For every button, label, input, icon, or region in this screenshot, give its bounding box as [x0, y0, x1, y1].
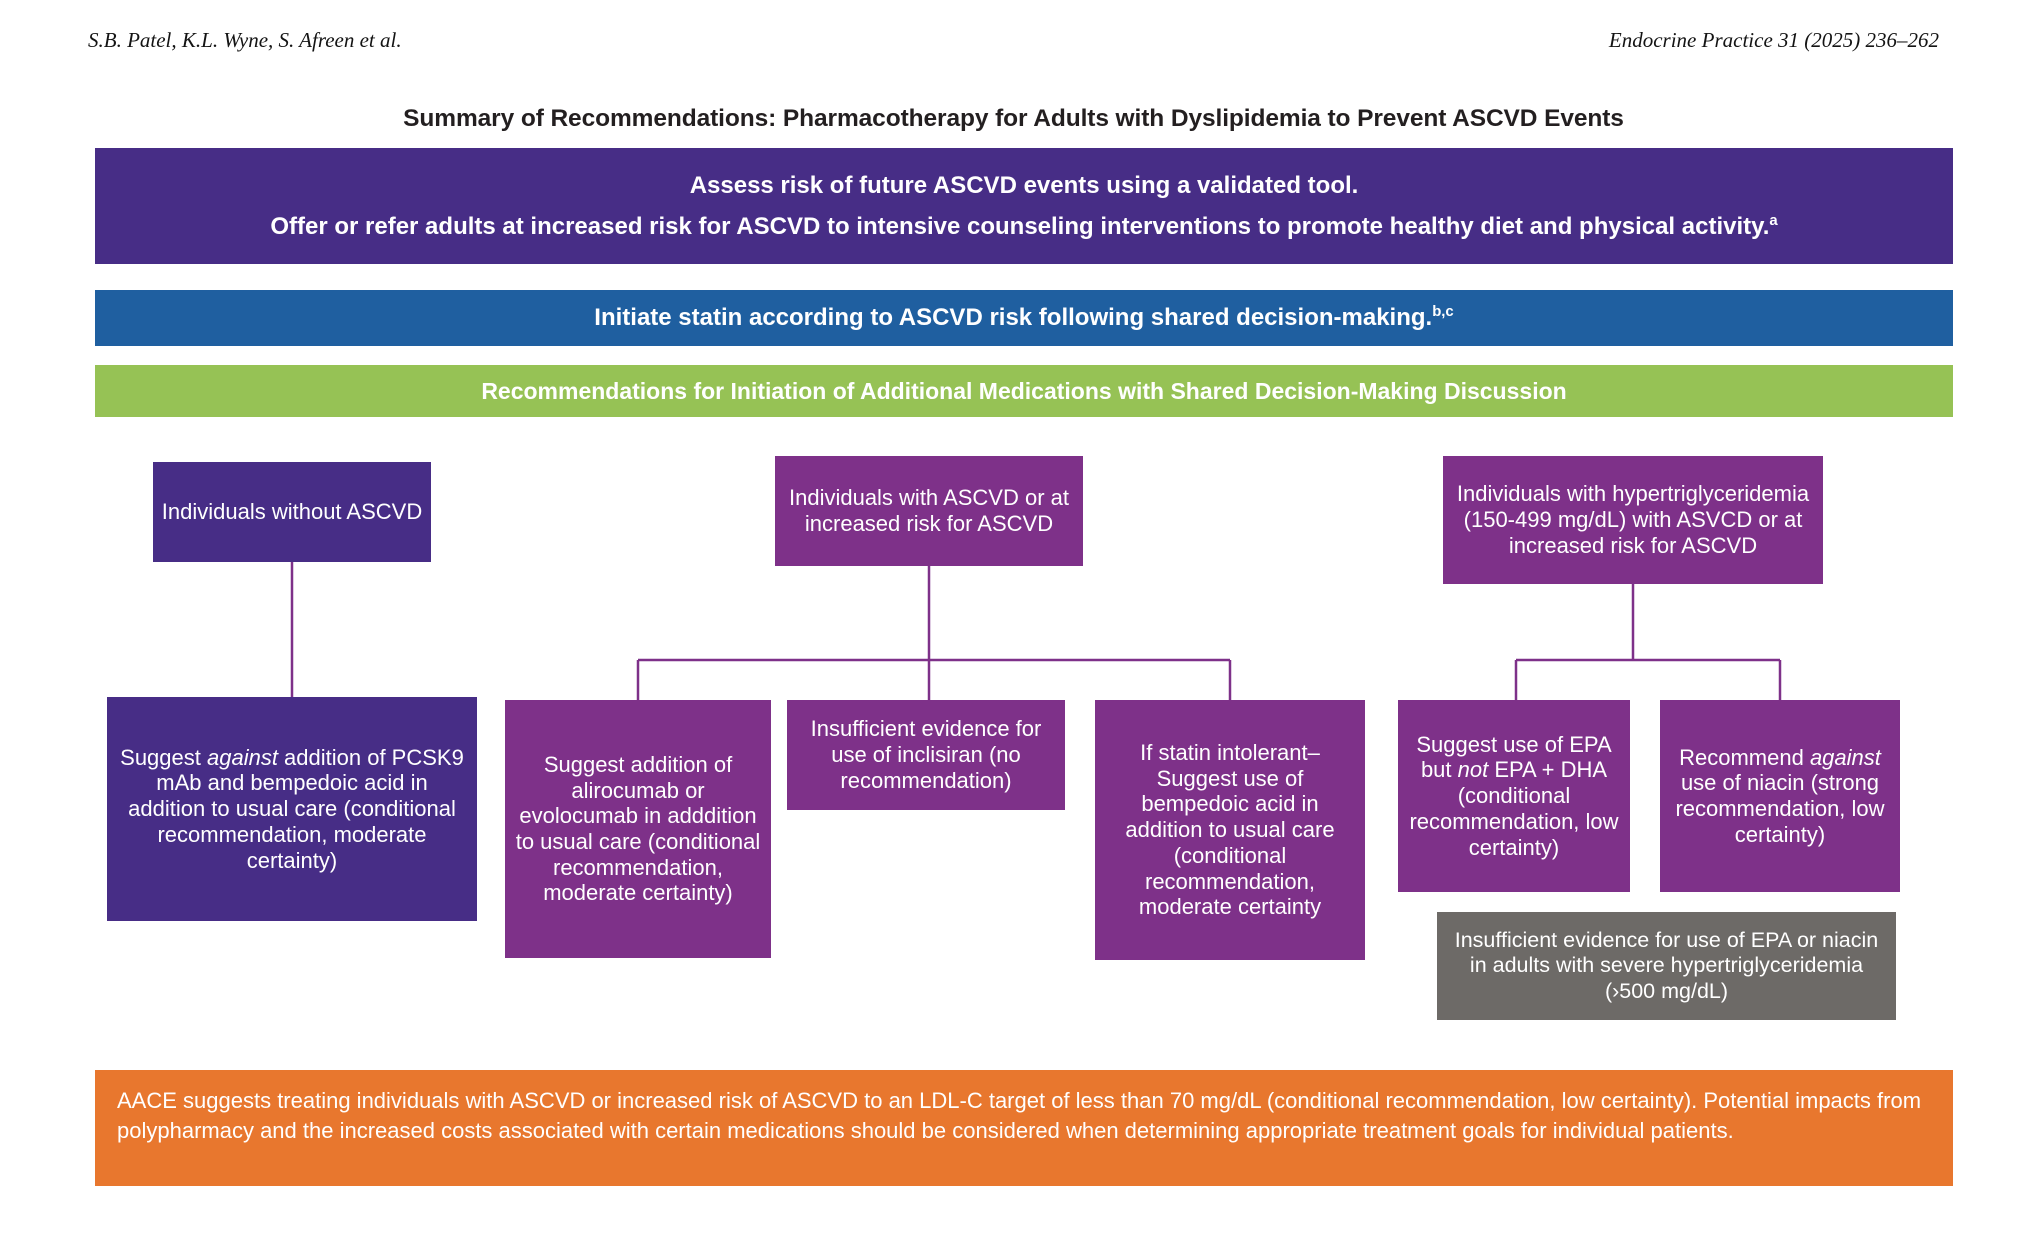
banner-statin-text: Initiate statin according to ASCVD risk …: [594, 304, 1432, 331]
banner-statin-text-wrap: Initiate statin according to ASCVD risk …: [594, 304, 1453, 332]
node-statin-intolerant-bempedoic[interactable]: If statin intolerant–Suggest use of bemp…: [1095, 700, 1365, 960]
banner-initiate-statin: Initiate statin according to ASCVD risk …: [95, 290, 1953, 346]
node-insufficient-evidence-inclisiran[interactable]: Insufficient evidence for use of inclisi…: [787, 700, 1065, 810]
node-individuals-with-ascvd[interactable]: Individuals with ASCVD or at increased r…: [775, 456, 1083, 566]
figure-title: Summary of Recommendations: Pharmacother…: [0, 105, 2027, 133]
node-insufficient-evidence-inclisiran-label: Insufficient evidence for use of inclisi…: [795, 716, 1057, 793]
node-suggest-against-pcsk9-bempedoic[interactable]: Suggest against addition of PCSK9 mAb an…: [107, 697, 477, 921]
running-head-authors: S.B. Patel, K.L. Wyne, S. Afreen et al.: [88, 28, 402, 53]
banner-assess-line2: Offer or refer adults at increased risk …: [270, 214, 1777, 239]
node-recommend-against-niacin-label: Recommend against use of niacin (strong …: [1668, 745, 1892, 848]
node-individuals-with-hypertriglyceridemia[interactable]: Individuals with hypertriglyceridemia (1…: [1443, 456, 1823, 584]
node-statin-intolerant-bempedoic-label: If statin intolerant–Suggest use of bemp…: [1103, 740, 1357, 920]
node-insufficient-evidence-severe-hypertriglyceridemia[interactable]: Insufficient evidence for use of EPA or …: [1437, 912, 1896, 1020]
banner-assess-risk: Assess risk of future ASCVD events using…: [95, 148, 1953, 264]
banner-footer-text: AACE suggests treating individuals with …: [117, 1088, 1921, 1143]
node-suggest-epa-not-epa-dha[interactable]: Suggest use of EPA but not EPA + DHA (co…: [1398, 700, 1630, 892]
footnote-marker-a: a: [1769, 213, 1777, 229]
emphasis-not: not: [1458, 757, 1489, 782]
node-individuals-without-ascvd[interactable]: Individuals without ASCVD: [153, 462, 431, 562]
running-head-journal: Endocrine Practice 31 (2025) 236–262: [1609, 28, 1939, 53]
banner-assess-line2-text: Offer or refer adults at increased risk …: [270, 213, 1769, 240]
node-individuals-without-ascvd-label: Individuals without ASCVD: [162, 499, 422, 525]
banner-recommendations-header: Recommendations for Initiation of Additi…: [95, 365, 1953, 417]
banner-assess-line1: Assess risk of future ASCVD events using…: [690, 173, 1359, 198]
banner-ldl-target-footer: AACE suggests treating individuals with …: [95, 1070, 1953, 1186]
banner-recs-text: Recommendations for Initiation of Additi…: [481, 378, 1566, 405]
node-suggest-epa-not-epa-dha-label: Suggest use of EPA but not EPA + DHA (co…: [1406, 732, 1622, 861]
node-suggest-against-pcsk9-bempedoic-label: Suggest against addition of PCSK9 mAb an…: [115, 745, 469, 874]
emphasis-against-niacin: against: [1810, 745, 1881, 770]
node-recommend-against-niacin[interactable]: Recommend against use of niacin (strong …: [1660, 700, 1900, 892]
node-suggest-alirocumab-evolocumab-label: Suggest addition of alirocumab or evoloc…: [513, 752, 763, 906]
node-individuals-with-hypertriglyceridemia-label: Individuals with hypertriglyceridemia (1…: [1451, 481, 1815, 558]
node-individuals-with-ascvd-label: Individuals with ASCVD or at increased r…: [783, 485, 1075, 536]
emphasis-against: against: [207, 745, 278, 770]
node-insufficient-evidence-severe-hypertriglyceridemia-label: Insufficient evidence for use of EPA or …: [1445, 928, 1888, 1003]
footnote-marker-bc: b,c: [1432, 304, 1454, 320]
node-suggest-alirocumab-evolocumab[interactable]: Suggest addition of alirocumab or evoloc…: [505, 700, 771, 958]
